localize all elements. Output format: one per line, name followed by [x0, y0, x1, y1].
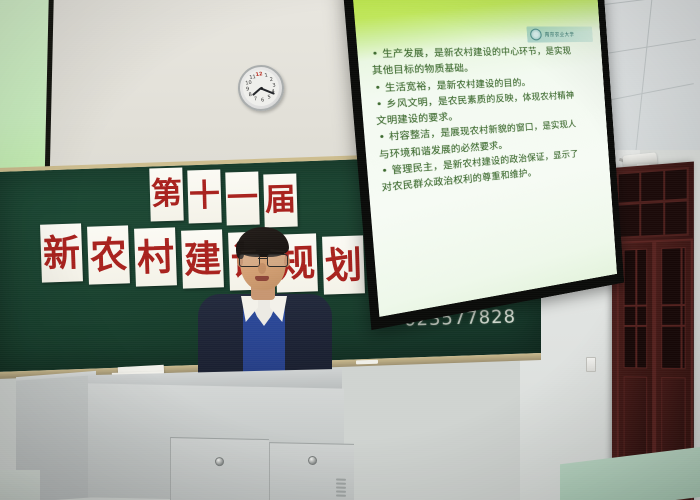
cabinet-vent [336, 479, 346, 481]
banner-sign: 十 [187, 170, 221, 224]
clock-numeral: 6 [261, 98, 265, 103]
slide-university-logo: 南京农业大学 [526, 27, 593, 43]
clock-face: 12 1 2 3 4 5 6 7 8 9 10 11 [241, 68, 282, 109]
university-emblem-icon [530, 29, 542, 41]
cabinet-vent [336, 487, 346, 489]
banner-sign: 新 [40, 223, 83, 282]
cabinet-vent [336, 483, 346, 485]
presentation-slide: 南京农业大学 生产发展，是新农村建设的中心环节，是实现 其他目标的物质基础。 生… [353, 0, 617, 317]
glasses-bridge [258, 258, 267, 259]
glasses-lens-left [239, 254, 260, 267]
cabinet-lock[interactable] [308, 456, 317, 465]
door-glass-pane [624, 249, 648, 369]
clock-numeral: 9 [246, 87, 250, 92]
door-transom [617, 167, 689, 239]
banner-sign: 农 [87, 225, 130, 284]
cabinet-vent [336, 491, 346, 493]
banner-sign: 第 [149, 168, 183, 222]
presenter-hair [237, 227, 289, 257]
banner-sign: 一 [225, 172, 259, 226]
clock-numeral: 5 [267, 95, 271, 100]
banner-sign: 划 [322, 235, 365, 294]
clock-center-pin [259, 86, 262, 89]
glasses-lens-right [267, 254, 288, 267]
podium-cabinet-door-left[interactable] [170, 437, 269, 500]
floor-left [0, 470, 40, 500]
podium-front-panel [88, 383, 344, 500]
cabinet-lock[interactable] [215, 457, 224, 466]
clock-numeral: 11 [249, 75, 256, 81]
clock-numeral: 7 [254, 97, 258, 102]
presenter-nose [258, 263, 266, 274]
clock-numeral: 12 [255, 72, 263, 78]
door-glass-pane [661, 247, 685, 369]
projection-screen: 南京农业大学 生产发展，是新农村建设的中心环节，是实现 其他目标的物质基础。 生… [342, 0, 624, 330]
clock-numeral: 1 [264, 73, 268, 78]
light-switch[interactable] [586, 357, 596, 372]
banner-sign: 届 [263, 174, 297, 228]
slide-logo-text: 南京农业大学 [545, 31, 575, 37]
clock-numeral: 10 [245, 80, 252, 86]
banner-sign: 村 [134, 227, 177, 286]
presenter-mouth [255, 276, 269, 281]
slide-body-text: 生产发展，是新农村建设的中心环节，是实现 其他目标的物质基础。 生活宽裕，是新农… [371, 44, 602, 197]
chalk-eraser [356, 360, 378, 365]
lecture-hall-photo: 12 1 2 3 4 5 6 7 8 9 10 11 第 十 一 届 新 [0, 0, 700, 500]
podium-cabinet-door-right[interactable] [269, 442, 354, 500]
cabinet-vent [336, 495, 346, 497]
